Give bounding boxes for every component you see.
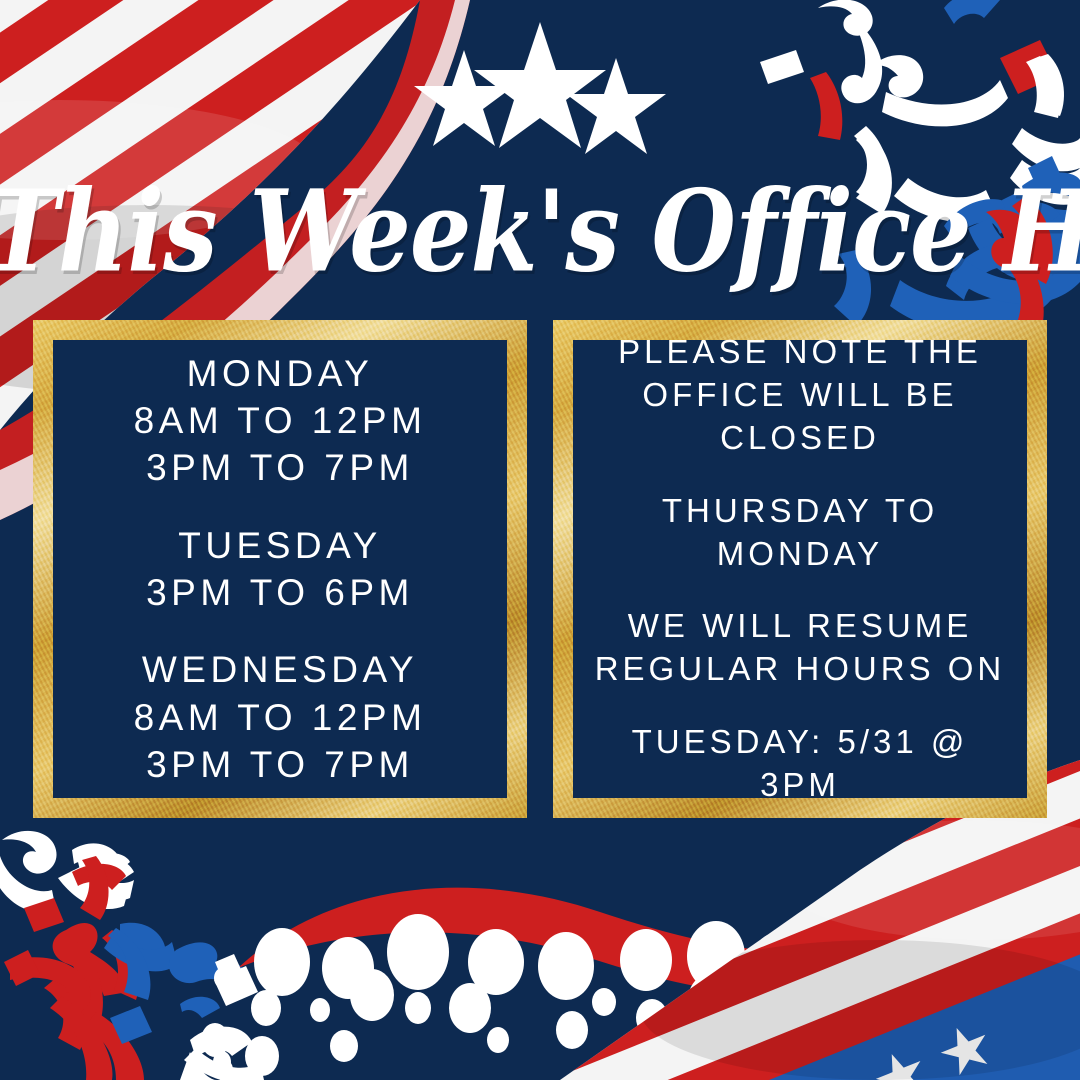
hours-block-wednesday: WEDNESDAY 8AM TO 12PM 3PM TO 7PM	[63, 646, 497, 788]
page-title-text: This Week's Office Hours	[0, 176, 1080, 288]
notice-panel-right-inner: PLEASE NOTE THE OFFICE WILL BE CLOSED TH…	[573, 340, 1027, 798]
office-hours-poster: This Week's Office Hours MONDAY 8AM TO 1…	[0, 0, 1080, 1080]
hours-panel-left: MONDAY 8AM TO 12PM 3PM TO 7PM TUESDAY 3P…	[33, 320, 527, 818]
notice-text-resume: WE WILL RESUME REGULAR HOURS ON	[583, 605, 1017, 691]
hours-day-tuesday: TUESDAY	[63, 522, 497, 569]
hours-day-monday: MONDAY	[63, 350, 497, 397]
notice-block-closed: PLEASE NOTE THE OFFICE WILL BE CLOSED	[583, 331, 1017, 460]
red-swoosh-wave	[238, 884, 964, 994]
notice-block-dates: THURSDAY TO MONDAY	[583, 490, 1017, 576]
hours-times-tuesday: 3PM TO 6PM	[63, 569, 497, 616]
white-dot-cluster	[201, 914, 800, 1080]
hours-day-wednesday: WEDNESDAY	[63, 646, 497, 693]
hours-times-wednesday: 8AM TO 12PM 3PM TO 7PM	[63, 694, 497, 789]
confetti-bottom-left	[0, 831, 264, 1080]
notice-block-reopen: TUESDAY: 5/31 @ 3PM	[583, 721, 1017, 807]
hours-times-monday: 8AM TO 12PM 3PM TO 7PM	[63, 397, 497, 492]
notice-block-resume: WE WILL RESUME REGULAR HOURS ON	[583, 605, 1017, 691]
hours-block-tuesday: TUESDAY 3PM TO 6PM	[63, 522, 497, 617]
notice-text-reopen: TUESDAY: 5/31 @ 3PM	[583, 721, 1017, 807]
notice-text-dates: THURSDAY TO MONDAY	[583, 490, 1017, 576]
notice-panel-right: PLEASE NOTE THE OFFICE WILL BE CLOSED TH…	[553, 320, 1047, 818]
notice-text-closed: PLEASE NOTE THE OFFICE WILL BE CLOSED	[583, 331, 1017, 460]
hours-block-monday: MONDAY 8AM TO 12PM 3PM TO 7PM	[63, 350, 497, 492]
three-stars-icon	[414, 22, 666, 154]
page-title: This Week's Office Hours	[0, 176, 1080, 271]
hours-panel-left-inner: MONDAY 8AM TO 12PM 3PM TO 7PM TUESDAY 3P…	[53, 340, 507, 798]
flag-canton-bottom-right	[513, 891, 1080, 1080]
